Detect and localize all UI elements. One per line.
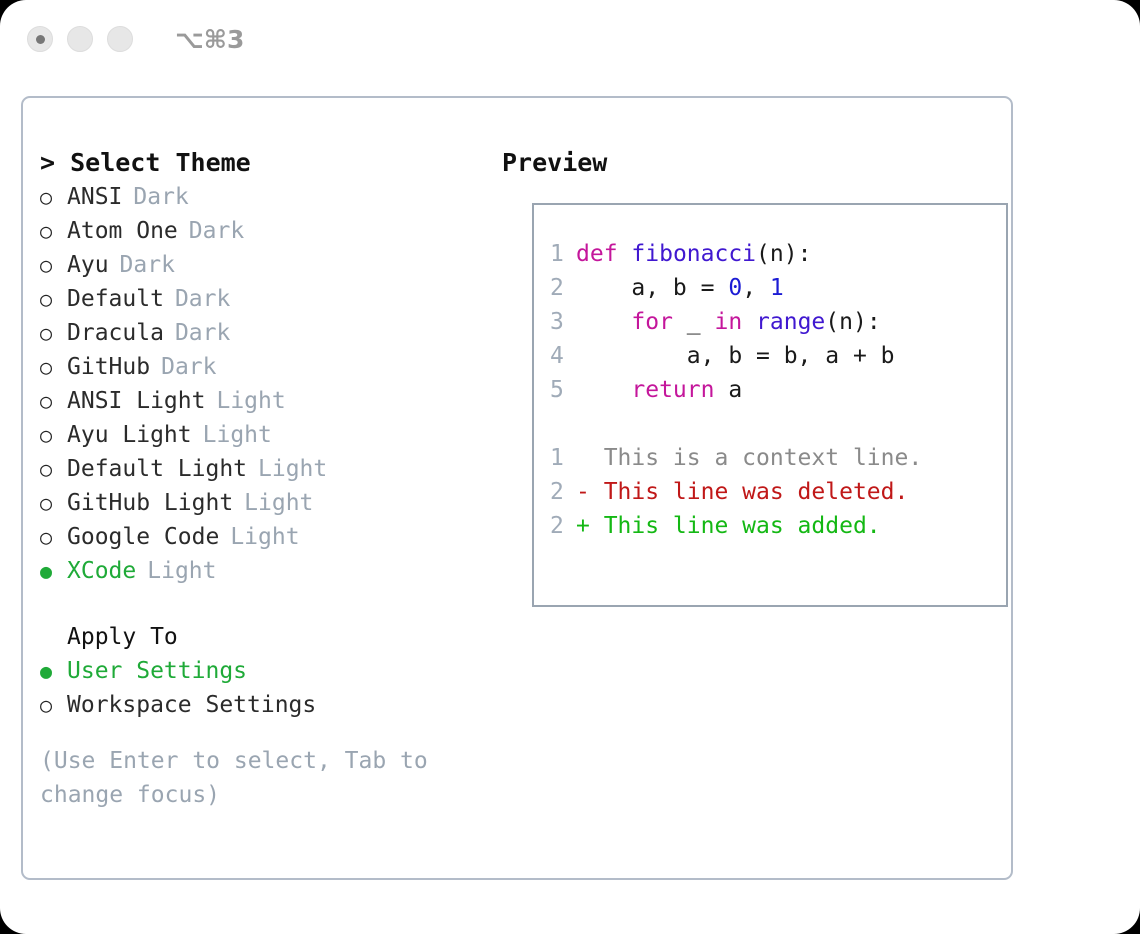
theme-variant-tag: Light [244,486,313,520]
radio-unselected-icon: ○ [40,452,67,486]
theme-item-ayu-light[interactable]: ○Ayu LightLight [40,418,500,452]
code-token: (n): [756,241,811,267]
theme-item-label: Default [67,282,164,316]
theme-item-label: Dracula [67,316,164,350]
theme-item-atom-one[interactable]: ○Atom OneDark [40,214,500,248]
code-token: 1 [770,275,784,301]
theme-variant-tag: Light [147,554,216,588]
code-line: 3 for _ in range(n): [550,305,922,339]
line-number: 5 [550,373,576,407]
theme-variant-tag: Dark [161,350,216,384]
radio-unselected-icon: ○ [40,350,67,384]
code-token: def [576,241,618,267]
theme-variant-tag: Light [216,384,285,418]
theme-variant-tag: Dark [175,316,230,350]
line-number: 4 [550,339,576,373]
theme-item-xcode[interactable]: ●XCodeLight [40,554,500,588]
radio-unselected-icon: ○ [40,384,67,418]
preview-box: 1def fibonacci(n):2 a, b = 0, 13 for _ i… [532,203,1008,607]
line-number: 1 [550,441,576,475]
theme-item-label: XCode [67,554,136,588]
radio-unselected-icon: ○ [40,248,67,282]
radio-unselected-icon: ○ [40,688,67,722]
select-theme-heading: > Select Theme [40,146,500,180]
theme-selector-column: > Select Theme ○ANSIDark○Atom OneDark○Ay… [40,146,500,812]
code-token [576,309,631,335]
code-token [618,241,632,267]
apply-to-options[interactable]: ●User Settings○Workspace Settings [40,654,500,722]
code-token: (n): [825,309,880,335]
diff-line: 2- This line was deleted. [550,475,922,509]
theme-variant-tag: Dark [175,282,230,316]
record-indicator-button[interactable] [27,26,53,52]
code-token [742,309,756,335]
keyboard-hint-text: (Use Enter to select, Tab to change focu… [40,744,440,812]
radio-unselected-icon: ○ [40,486,67,520]
line-number: 2 [550,475,576,509]
diff-line: 1 This is a context line. [550,441,922,475]
line-number: 3 [550,305,576,339]
code-preview: 1def fibonacci(n):2 a, b = 0, 13 for _ i… [550,237,922,543]
theme-variant-tag: Light [258,452,327,486]
diff-text: - This line was deleted. [576,479,908,505]
diff-text: This is a context line. [576,445,922,471]
record-dot-icon [36,35,45,44]
radio-unselected-icon: ○ [40,214,67,248]
radio-unselected-icon: ○ [40,520,67,554]
theme-variant-tag: Light [230,520,299,554]
code-token: return [631,377,714,403]
theme-item-github-light[interactable]: ○GitHub LightLight [40,486,500,520]
theme-item-ayu[interactable]: ○AyuDark [40,248,500,282]
app-window: ⌥⌘3 > Select Theme ○ANSIDark○Atom OneDar… [0,0,1140,934]
theme-variant-tag: Dark [120,248,175,282]
diff-text: + This line was added. [576,513,881,539]
theme-item-label: ANSI [67,180,122,214]
titlebar-button-2[interactable] [67,26,93,52]
theme-item-default[interactable]: ○DefaultDark [40,282,500,316]
theme-item-google-code[interactable]: ○Google CodeLight [40,520,500,554]
code-line: 2 a, b = 0, 1 [550,271,922,305]
code-token: 0 [728,275,742,301]
radio-selected-icon: ● [40,654,67,688]
line-number: 1 [550,237,576,271]
theme-item-label: Default Light [67,452,247,486]
code-line: 1def fibonacci(n): [550,237,922,271]
code-line: 4 a, b = b, a + b [550,339,922,373]
keyboard-shortcut-label: ⌥⌘3 [175,27,244,52]
theme-item-label: Ayu [67,248,109,282]
line-number: 2 [550,509,576,543]
radio-unselected-icon: ○ [40,282,67,316]
apply-option-user-settings[interactable]: ●User Settings [40,654,500,688]
apply-option-label: User Settings [67,654,247,688]
theme-item-github[interactable]: ○GitHubDark [40,350,500,384]
code-token: a, b = [576,275,728,301]
code-token [576,377,631,403]
diff-line: 2+ This line was added. [550,509,922,543]
title-bar: ⌥⌘3 [0,0,1140,78]
radio-unselected-icon: ○ [40,180,67,214]
apply-to-heading: Apply To [40,620,500,654]
theme-item-label: ANSI Light [67,384,205,418]
theme-item-dracula[interactable]: ○DraculaDark [40,316,500,350]
code-token: , [742,275,770,301]
radio-selected-icon: ● [40,554,67,588]
theme-item-ansi[interactable]: ○ANSIDark [40,180,500,214]
theme-item-label: GitHub Light [67,486,233,520]
code-token: a, b = b, a + b [576,343,895,369]
code-token: in [714,309,742,335]
titlebar-button-3[interactable] [107,26,133,52]
code-spacer [550,407,922,441]
theme-item-label: Google Code [67,520,219,554]
theme-item-default-light[interactable]: ○Default LightLight [40,452,500,486]
theme-item-ansi-light[interactable]: ○ANSI LightLight [40,384,500,418]
theme-item-label: Atom One [67,214,178,248]
code-token: for [631,309,673,335]
theme-item-label: GitHub [67,350,150,384]
apply-option-label: Workspace Settings [67,688,316,722]
radio-unselected-icon: ○ [40,316,67,350]
preview-heading: Preview [502,146,1002,180]
theme-item-label: Ayu Light [67,418,192,452]
content-panel: > Select Theme ○ANSIDark○Atom OneDark○Ay… [21,96,1013,880]
theme-list[interactable]: ○ANSIDark○Atom OneDark○AyuDark○DefaultDa… [40,180,500,588]
code-token: range [756,309,825,335]
radio-unselected-icon: ○ [40,418,67,452]
code-line: 5 return a [550,373,922,407]
theme-variant-tag: Light [203,418,272,452]
code-token: a [714,377,742,403]
code-token: fibonacci [631,241,756,267]
apply-option-workspace-settings[interactable]: ○Workspace Settings [40,688,500,722]
theme-variant-tag: Dark [189,214,244,248]
theme-variant-tag: Dark [133,180,188,214]
line-number: 2 [550,271,576,305]
preview-column: Preview 1def fibonacci(n):2 a, b = 0, 13… [502,146,1002,180]
code-token: _ [673,309,715,335]
